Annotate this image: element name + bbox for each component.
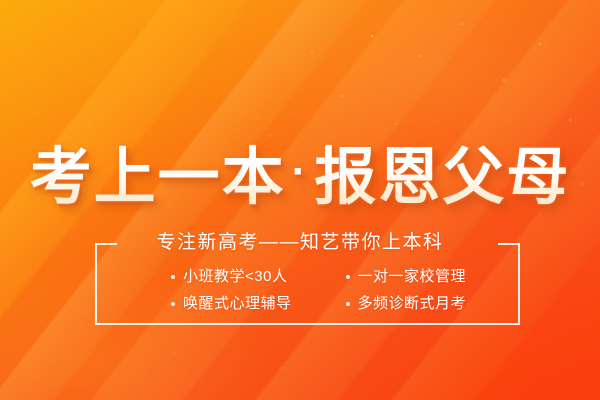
feature-list: 小班教学<30人 一对一家校管理 唤醒式心理辅导 多频诊断式月考 xyxy=(95,266,520,314)
headline-left-text: 考上一本 xyxy=(30,143,286,212)
bullet-icon xyxy=(346,275,350,279)
headline-right-text: 报恩父母 xyxy=(314,143,570,212)
list-item: 唤醒式心理辅导 xyxy=(171,293,346,314)
bullet-icon xyxy=(171,302,175,306)
feature-frame-top-border xyxy=(95,243,520,245)
feature-label: 多频诊断式月考 xyxy=(358,293,467,314)
promo-banner: 考上一本·报恩父母 专注新高考——知艺带你上本科 小班教学<30人 一对一家校管… xyxy=(0,0,600,400)
frame-bracket-right xyxy=(498,243,520,245)
bullet-icon xyxy=(171,275,175,279)
feature-label: 小班教学<30人 xyxy=(183,266,287,287)
list-item: 小班教学<30人 xyxy=(171,266,346,287)
headline: 考上一本·报恩父母 xyxy=(0,136,600,214)
list-item: 一对一家校管理 xyxy=(346,266,521,287)
headline-separator-dot: · xyxy=(286,147,315,196)
bullet-icon xyxy=(346,302,350,306)
frame-bracket-left xyxy=(95,243,117,245)
feature-label: 唤醒式心理辅导 xyxy=(183,293,292,314)
list-item: 多频诊断式月考 xyxy=(346,293,521,314)
feature-label: 一对一家校管理 xyxy=(358,266,467,287)
